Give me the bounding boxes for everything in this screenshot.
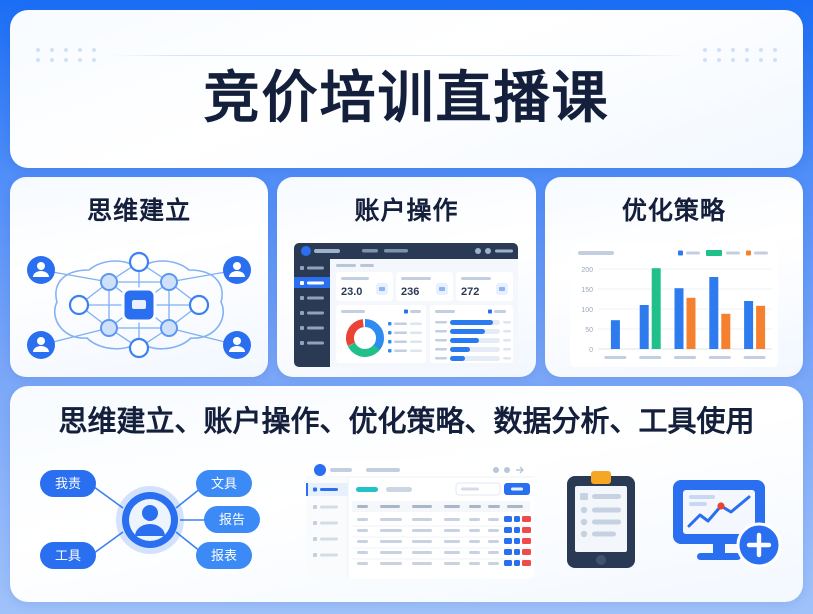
- page-title: 竞价培训直播课: [10, 68, 803, 128]
- bottom-illustration-row: 我责 工具 文具 报告 报表: [24, 448, 789, 592]
- table-ui-mockup-image: [304, 459, 536, 581]
- monitor-trend-chart-icon: [667, 468, 785, 573]
- svg-text:200: 200: [581, 267, 593, 274]
- feature-card-title: 思维建立: [87, 191, 191, 227]
- bar-chart-card: 050100150200: [545, 233, 803, 377]
- feature-card-account[interactable]: 账户操作: [277, 177, 535, 377]
- pill-label-4: 报告: [219, 512, 245, 527]
- feature-card-title: 账户操作: [354, 191, 458, 227]
- svg-text:23.0: 23.0: [341, 286, 362, 298]
- svg-text:236: 236: [401, 286, 419, 298]
- pill-label-1: 我责: [55, 476, 81, 491]
- network-mindmap-icon: [10, 233, 268, 377]
- svg-text:0: 0: [589, 347, 593, 354]
- feature-card-title: 优化策略: [622, 191, 726, 227]
- feature-card-mindset[interactable]: 思维建立: [10, 177, 268, 377]
- bottom-headline: 思维建立、账户操作、优化策略、数据分析、工具使用: [24, 398, 789, 440]
- dot-grid-right-icon: [703, 48, 777, 62]
- header-decoration: [10, 48, 803, 62]
- feature-cards-row: 思维建立: [10, 177, 803, 377]
- feature-card-strategy[interactable]: 优化策略 050100150200: [545, 177, 803, 377]
- bar-chart-svg: 050100150200: [568, 241, 780, 369]
- pill-label-2: 工具: [55, 548, 81, 563]
- header-divider-line: [110, 55, 689, 56]
- bottom-card: 思维建立、账户操作、优化策略、数据分析、工具使用: [10, 386, 803, 602]
- user-mindmap-icon: 我责 工具 文具 报告 报表: [28, 460, 278, 580]
- dot-grid-left-icon: [36, 48, 96, 62]
- svg-text:100: 100: [581, 307, 593, 314]
- dashboard-mockup-image: 23.0 236 272: [277, 233, 535, 377]
- svg-text:50: 50: [585, 327, 593, 334]
- pill-label-3: 文具: [211, 476, 237, 491]
- svg-text:150: 150: [581, 287, 593, 294]
- svg-text:272: 272: [461, 286, 479, 298]
- clipboard-checklist-icon: [561, 468, 641, 573]
- header-card: 竞价培训直播课: [10, 10, 803, 168]
- poster-root: 竞价培训直播课 思维建立: [0, 0, 813, 614]
- pill-label-5: 报表: [211, 548, 237, 563]
